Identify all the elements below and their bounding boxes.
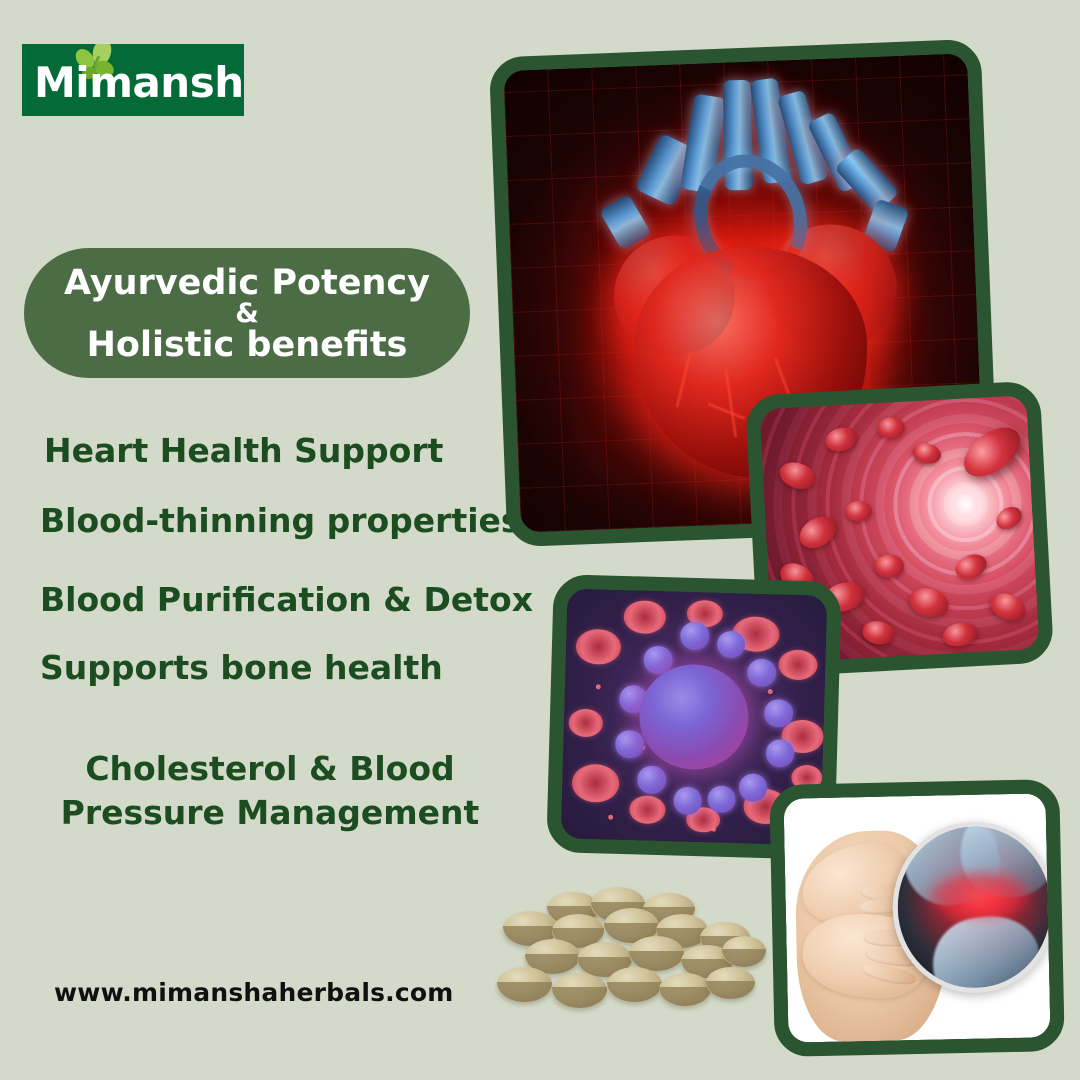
website-url[interactable]: www.mimanshaherbals.com	[54, 978, 454, 1007]
benefit-item-bone-health: Supports bone health	[40, 648, 443, 688]
headline-line-2: Holistic benefits	[87, 326, 408, 364]
knee-joint-image-card	[769, 779, 1065, 1057]
promo-poster: Mimansha Ayurvedic Potency & Holistic be…	[0, 0, 1080, 1080]
benefit-item-heart-health: Heart Health Support	[44, 431, 443, 471]
benefit-item-cholesterol-bp: Cholesterol & Blood Pressure Management	[0, 747, 540, 835]
knee-joint-image	[783, 793, 1050, 1042]
herbal-tablets-image	[492, 886, 766, 1026]
headline-ampersand: &	[235, 302, 259, 326]
brand-logo[interactable]: Mimansha	[22, 44, 244, 116]
benefit-item-blood-purification: Blood Purification & Detox	[40, 580, 533, 620]
brand-logo-text: Mimansha	[34, 60, 244, 106]
benefit-item-blood-thinning: Blood-thinning properties	[40, 501, 521, 541]
headline-line-1: Ayurvedic Potency	[64, 264, 430, 302]
headline-badge: Ayurvedic Potency & Holistic benefits	[24, 248, 470, 378]
